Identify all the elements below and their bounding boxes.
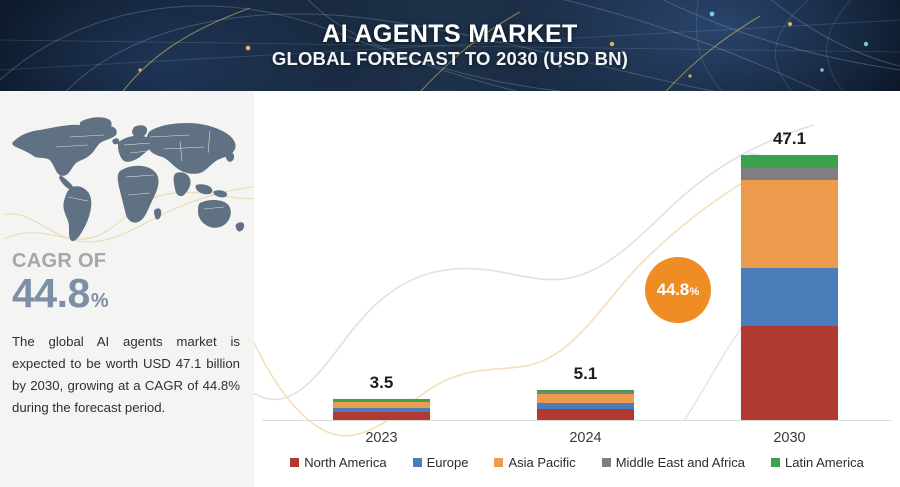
bar-group-2030: 47.1 2030 bbox=[741, 91, 838, 487]
legend-label: Latin America bbox=[785, 455, 864, 470]
chart-legend: North America Europe Asia Pacific Middle… bbox=[254, 449, 900, 475]
legend-swatch-icon bbox=[290, 458, 299, 467]
legend-item-latin-america[interactable]: Latin America bbox=[771, 455, 864, 470]
x-label-2023: 2023 bbox=[365, 430, 397, 446]
legend-label: North America bbox=[304, 455, 386, 470]
world-map-icon bbox=[4, 97, 254, 249]
segment-asia-pacific-2030[interactable] bbox=[741, 180, 838, 268]
bar-total-2030: 47.1 bbox=[773, 129, 806, 149]
legend-label: Middle East and Africa bbox=[616, 455, 745, 470]
cagr-callout-bubble: 44.8 % bbox=[645, 257, 711, 323]
chart-panel: 3.5 2023 5.1 bbox=[254, 91, 900, 487]
page-title: AI AGENTS MARKET bbox=[322, 22, 577, 47]
legend-item-middle-east-and-africa[interactable]: Middle East and Africa bbox=[602, 455, 745, 470]
legend-swatch-icon bbox=[413, 458, 422, 467]
stacked-bar-chart: 3.5 2023 5.1 bbox=[254, 91, 900, 487]
bar-group-2023: 3.5 2023 bbox=[333, 91, 430, 487]
cagr-summary-block: CAGR OF 44.8 % The global AI agents mark… bbox=[12, 251, 244, 419]
cagr-value: 44.8 bbox=[12, 273, 90, 314]
header-title-block: AI AGENTS MARKET GLOBAL FORECAST TO 2030… bbox=[0, 0, 900, 91]
market-description: The global AI agents market is expected … bbox=[12, 331, 240, 419]
legend-label: Asia Pacific bbox=[508, 455, 575, 470]
segment-north-america-2024[interactable] bbox=[537, 409, 634, 421]
legend-item-europe[interactable]: Europe bbox=[413, 455, 469, 470]
legend-swatch-icon bbox=[494, 458, 503, 467]
legend-label: Europe bbox=[427, 455, 469, 470]
sidebar-panel: CAGR OF 44.8 % The global AI agents mark… bbox=[0, 91, 254, 487]
bar-group-2024: 5.1 2024 bbox=[537, 91, 634, 487]
bar-stack-2030[interactable] bbox=[741, 155, 838, 420]
segment-north-america-2030[interactable] bbox=[741, 326, 838, 420]
legend-swatch-icon bbox=[771, 458, 780, 467]
segment-latin-america-2030[interactable] bbox=[741, 155, 838, 168]
segment-europe-2030[interactable] bbox=[741, 268, 838, 326]
segment-asia-pacific-2024[interactable] bbox=[537, 394, 634, 403]
cagr-callout-value: 44.8 bbox=[657, 281, 689, 298]
page-subtitle: GLOBAL FORECAST TO 2030 (USD BN) bbox=[272, 50, 628, 69]
legend-item-north-america[interactable]: North America bbox=[290, 455, 386, 470]
bar-stack-2024[interactable] bbox=[537, 390, 634, 420]
segment-north-america-2023[interactable] bbox=[333, 412, 430, 420]
legend-item-asia-pacific[interactable]: Asia Pacific bbox=[494, 455, 575, 470]
bar-total-2024: 5.1 bbox=[574, 364, 598, 384]
bar-total-2023: 3.5 bbox=[370, 373, 394, 393]
cagr-value-row: 44.8 % bbox=[12, 273, 244, 314]
header-banner: AI AGENTS MARKET GLOBAL FORECAST TO 2030… bbox=[0, 0, 900, 91]
x-label-2030: 2030 bbox=[773, 430, 805, 446]
bar-stack-2023[interactable] bbox=[333, 399, 430, 420]
world-map-svg bbox=[4, 97, 254, 249]
cagr-callout-percent: % bbox=[690, 287, 700, 298]
x-label-2024: 2024 bbox=[569, 430, 601, 446]
segment-middle-east-africa-2030[interactable] bbox=[741, 168, 838, 180]
infographic-root: AI AGENTS MARKET GLOBAL FORECAST TO 2030… bbox=[0, 0, 900, 487]
legend-swatch-icon bbox=[602, 458, 611, 467]
cagr-label: CAGR OF bbox=[12, 251, 244, 272]
cagr-percent-sign: % bbox=[91, 291, 109, 311]
